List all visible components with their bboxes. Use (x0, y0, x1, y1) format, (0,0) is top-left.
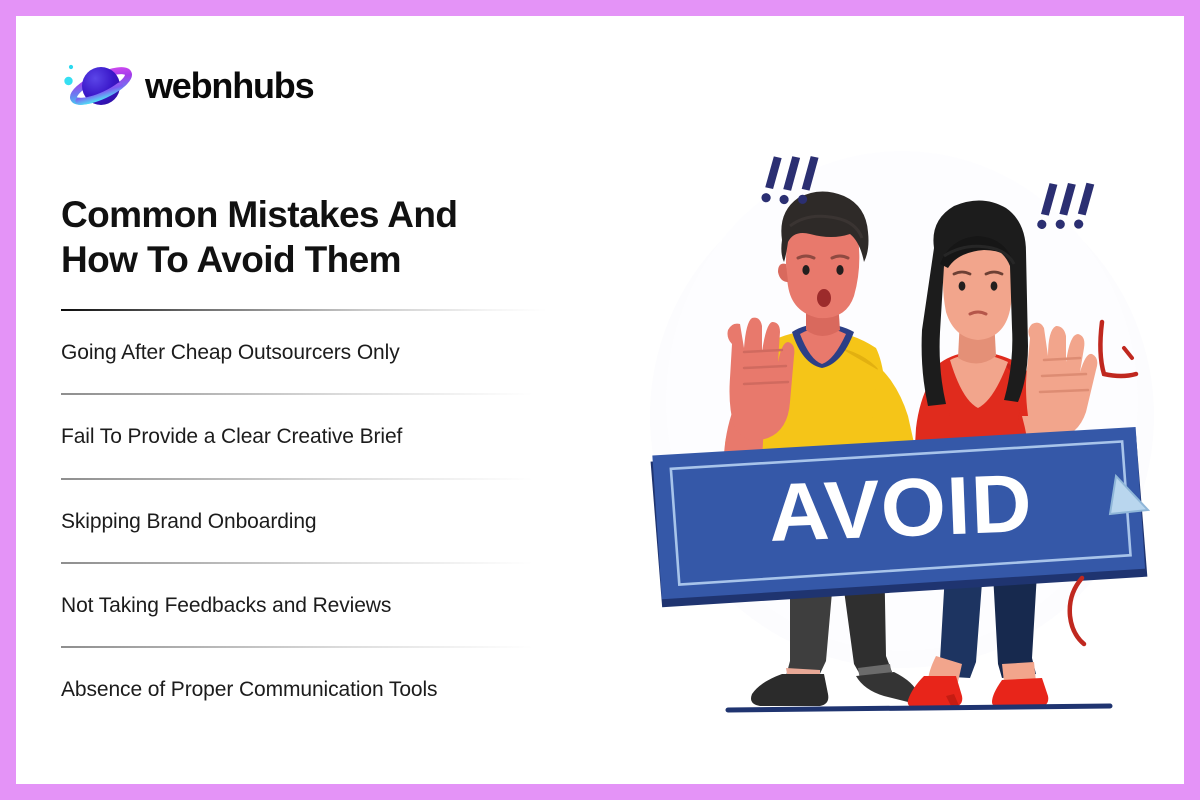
content-card: webnhubs Common Mistakes And How To Avoi… (16, 16, 1184, 784)
list-item-label: Not Taking Feedbacks and Reviews (61, 564, 561, 646)
list-item-label: Absence of Proper Communication Tools (61, 648, 561, 730)
brand-logo[interactable]: webnhubs (61, 58, 313, 114)
brand-wordmark: webnhubs (145, 68, 313, 104)
list-item[interactable]: Absence of Proper Communication Tools (61, 648, 561, 730)
list-item[interactable]: Going After Cheap Outsourcers Only (61, 311, 561, 395)
mistakes-list: Going After Cheap Outsourcers Only Fail … (61, 311, 561, 730)
list-item[interactable]: Not Taking Feedbacks and Reviews (61, 564, 561, 648)
list-item-label: Fail To Provide a Clear Creative Brief (61, 395, 561, 477)
left-content-column: Common Mistakes And How To Avoid Them Go… (61, 192, 561, 730)
svg-text:AVOID: AVOID (767, 457, 1034, 559)
list-item-label: Skipping Brand Onboarding (61, 480, 561, 562)
planet-ring-icon (61, 58, 133, 114)
list-item[interactable]: Fail To Provide a Clear Creative Brief (61, 395, 561, 479)
page-border: webnhubs Common Mistakes And How To Avoi… (0, 0, 1200, 800)
page-title: Common Mistakes And How To Avoid Them (61, 192, 561, 282)
list-item-label: Going After Cheap Outsourcers Only (61, 311, 561, 393)
avoid-sign-illustration: AVOID (640, 116, 1160, 736)
list-item[interactable]: Skipping Brand Onboarding (61, 480, 561, 564)
